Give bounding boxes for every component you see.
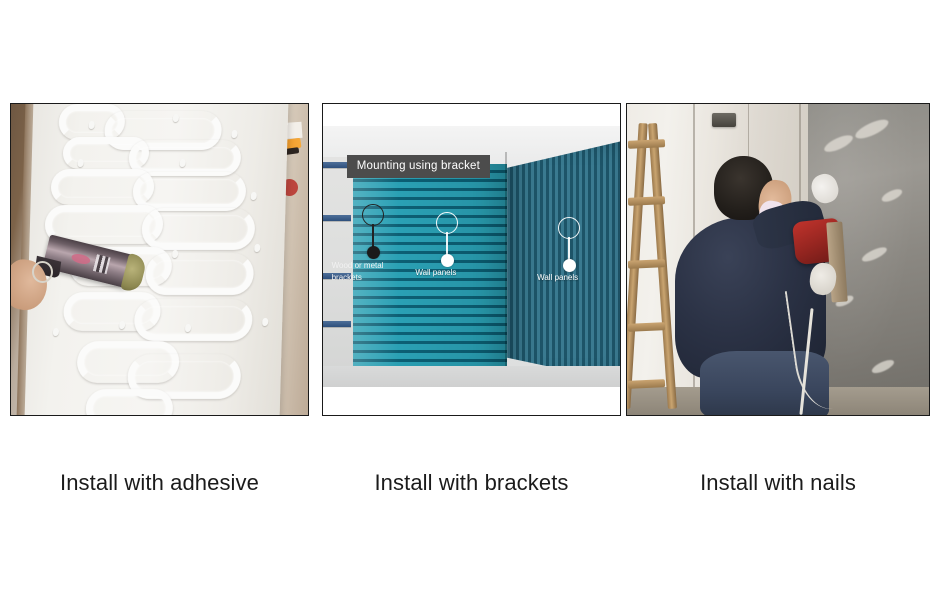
cartridge-barcode [93,254,110,273]
room-corner-edge [505,152,507,371]
caption-adhesive: Install with adhesive [10,470,309,496]
bracket-rail [323,321,351,327]
adhesive-droplet [231,130,237,138]
photo-frame-adhesive[interactable]: IS [10,103,309,416]
adhesive-bead [141,208,255,250]
wall-outlet-box [712,113,736,127]
floor [323,366,620,387]
adhesive-bead [134,298,253,340]
callout-knob-icon [563,259,576,272]
bracket-rail [323,215,351,221]
plaster-mark [870,357,896,376]
callout-knob-icon [367,246,380,259]
callout-label: Wall panels [415,268,456,277]
adhesive-droplet [119,321,125,329]
hand-ring-icon [32,261,53,283]
room-stage: Mounting using bracket Wood or metal bra… [323,126,620,387]
photo-adhesive: IS [11,104,308,415]
ladder-step [628,259,665,269]
photo-frame-nails[interactable] [626,103,930,416]
adhesive-bead [128,140,241,176]
diagram-brackets: Mounting using bracket Wood or metal bra… [323,104,620,415]
adhesive-droplet [262,318,268,326]
callout-ring-icon [362,204,384,226]
adhesive-droplet [172,250,178,258]
adhesive-droplet [250,192,256,200]
plaster-mark [861,245,889,265]
ladder-step [628,196,665,206]
ladder-step [628,379,665,389]
caption-brackets: Install with brackets [322,470,621,496]
diagram-title-chip: Mounting using bracket [347,155,490,178]
ladder-step [628,322,665,332]
callout-knob-icon [441,254,454,267]
callout-ring-icon [558,217,580,239]
plaster-mark [853,116,891,143]
installation-methods-gallery: IS [0,0,940,600]
photo-frame-brackets[interactable]: Mounting using bracket Wood or metal bra… [322,103,621,416]
photo-nails [627,104,929,415]
adhesive-droplet [52,327,58,335]
callout-label: Wall panels [537,273,578,282]
callout-label: Wood or metal brackets [332,260,398,284]
adhesive-bead [85,389,173,416]
adhesive-droplet [89,120,95,128]
ladder-step [628,139,665,149]
adhesive-droplet [254,243,260,251]
adhesive-bead [145,253,253,295]
cartridge-label [70,252,91,266]
callout-ring-icon [436,212,458,234]
plaster-mark [880,187,904,205]
caption-nails: Install with nails [626,470,930,496]
worker [675,148,850,415]
